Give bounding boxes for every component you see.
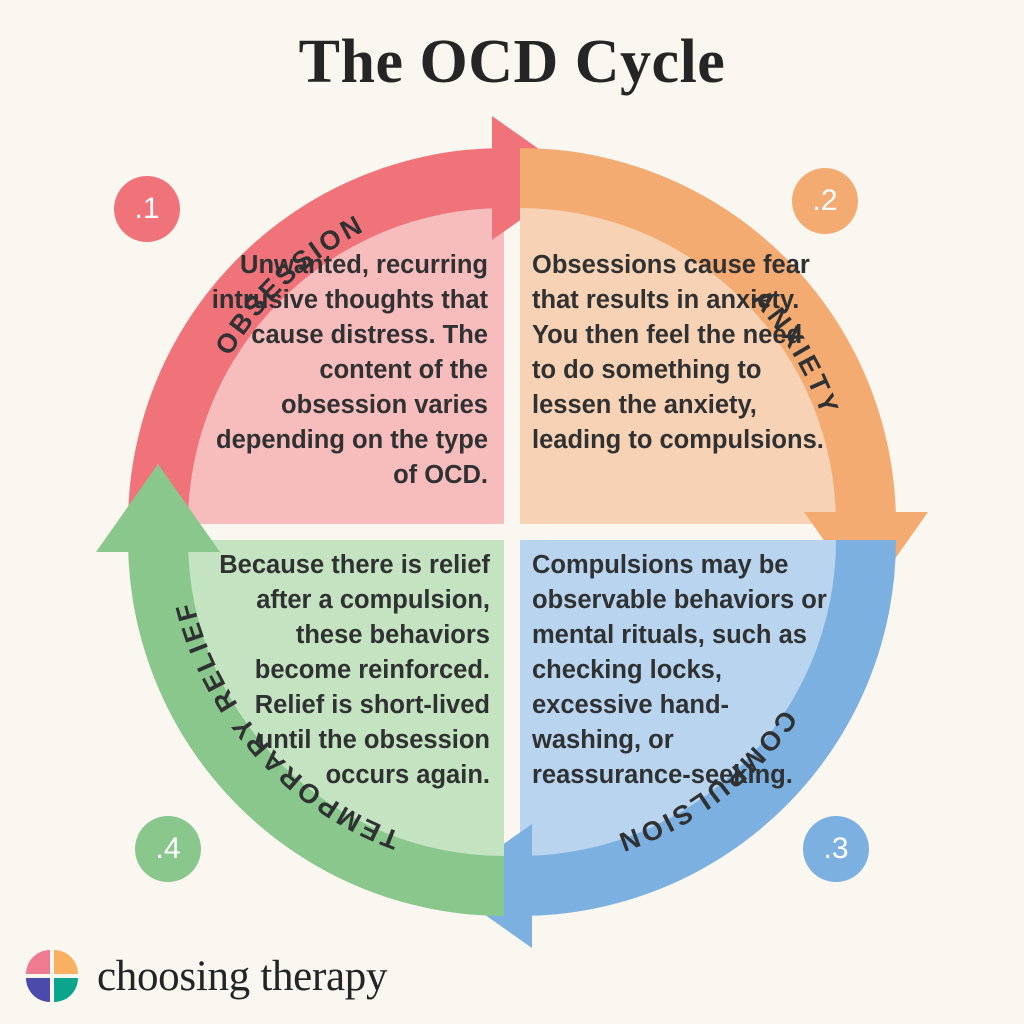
- step-badge-2: .2: [792, 168, 858, 234]
- logo-petal-bottom-left: [26, 978, 50, 1002]
- anxiety-body-text: Obsessions cause fear that results in an…: [532, 248, 832, 458]
- step-badge-1: .1: [114, 176, 180, 242]
- logo-petal-top-left: [26, 950, 50, 974]
- step-badge-3: .3: [803, 816, 869, 882]
- brand-name: choosing therapy: [97, 952, 387, 1001]
- ocd-cycle-infographic: The OCD Cycle OBSESSION: [0, 0, 1024, 1024]
- choosing-therapy-mark-icon: [26, 950, 78, 1002]
- logo-petal-top-right: [54, 950, 78, 974]
- cycle-diagram: OBSESSION ANXIETY COMPULSION: [80, 108, 944, 940]
- obsession-body-text: Unwanted, recurring intrusive thoughts t…: [198, 248, 488, 492]
- temporary-relief-body-text: Because there is relief after a compulsi…: [196, 548, 490, 792]
- step-badge-4: .4: [135, 816, 201, 882]
- logo-petal-bottom-right: [54, 978, 78, 1002]
- page-title: The OCD Cycle: [0, 28, 1024, 96]
- cycle-diagram-svg: OBSESSION ANXIETY COMPULSION: [80, 108, 944, 940]
- brand-logo: choosing therapy: [26, 950, 387, 1002]
- compulsion-body-text: Compulsions may be observable behaviors …: [532, 548, 832, 792]
